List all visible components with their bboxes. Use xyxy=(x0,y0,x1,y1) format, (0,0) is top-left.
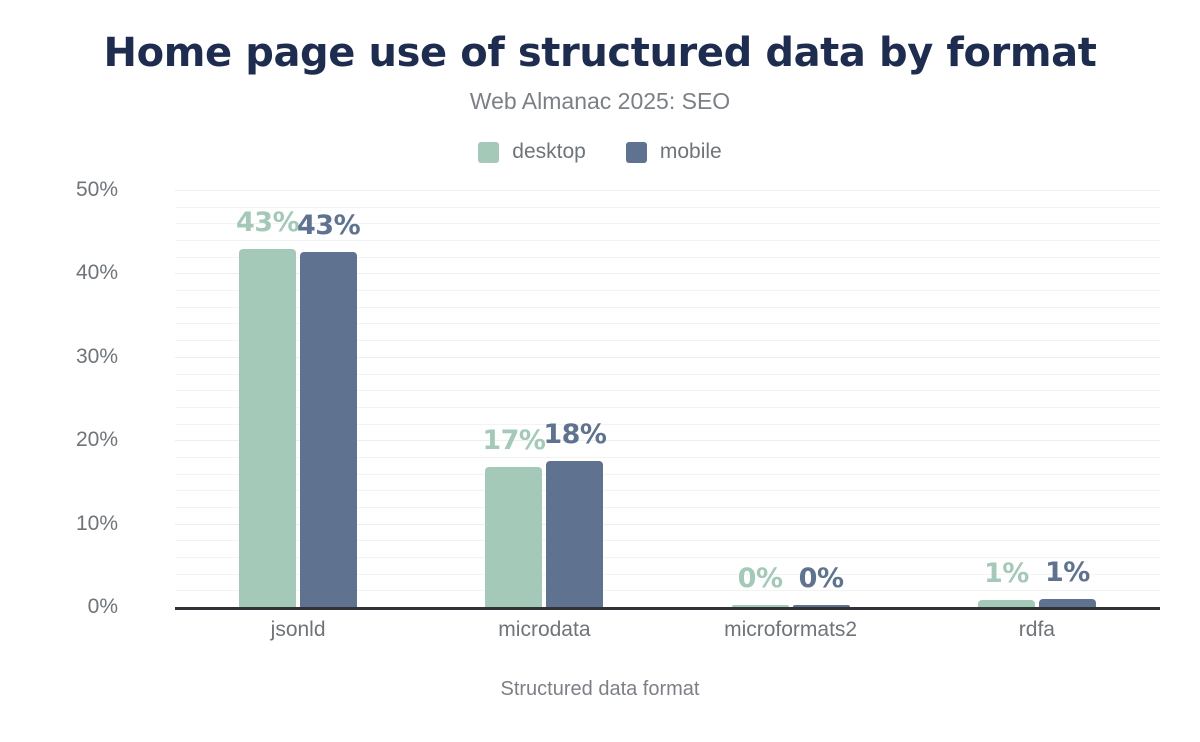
value-label-jsonld-mobile: 43% xyxy=(297,210,360,241)
bar-microdata-mobile[interactable] xyxy=(546,461,603,607)
bar-microdata-desktop[interactable] xyxy=(485,467,542,607)
chart-title: Home page use of structured data by form… xyxy=(0,30,1200,76)
legend-swatch-icon xyxy=(626,142,647,163)
chart-subtitle: Web Almanac 2025: SEO xyxy=(0,88,1200,115)
y-tick-label: 0% xyxy=(88,595,118,619)
bar-jsonld-mobile[interactable] xyxy=(300,252,357,607)
x-tick-label-rdfa: rdfa xyxy=(1019,618,1055,642)
value-label-microdata-desktop: 17% xyxy=(482,425,545,456)
value-label-rdfa-desktop: 1% xyxy=(984,558,1029,589)
legend-label: mobile xyxy=(660,140,722,164)
y-axis-ticks: 0%10%20%30%40%50% xyxy=(0,190,163,607)
legend-item-mobile[interactable]: mobile xyxy=(626,140,722,164)
bar-rdfa-mobile[interactable] xyxy=(1039,599,1096,607)
y-tick-label: 50% xyxy=(76,178,118,202)
value-label-rdfa-mobile: 1% xyxy=(1045,557,1090,588)
chart-legend: desktopmobile xyxy=(0,140,1200,164)
y-tick-label: 20% xyxy=(76,428,118,452)
legend-label: desktop xyxy=(512,140,586,164)
x-tick-label-jsonld: jsonld xyxy=(271,618,326,642)
value-label-jsonld-desktop: 43% xyxy=(236,207,299,238)
y-tick-label: 30% xyxy=(76,345,118,369)
plot-area: 43%43%17%18%0%0%1%1% xyxy=(175,190,1160,607)
value-label-microformats2-desktop: 0% xyxy=(738,563,783,594)
value-label-microdata-mobile: 18% xyxy=(543,419,606,450)
y-tick-label: 10% xyxy=(76,512,118,536)
gridline xyxy=(175,190,1160,191)
x-tick-label-microdata: microdata xyxy=(498,618,590,642)
x-axis-title: Structured data format xyxy=(0,678,1200,701)
bar-chart: Home page use of structured data by form… xyxy=(0,0,1200,742)
gridline xyxy=(175,207,1160,208)
bar-jsonld-desktop[interactable] xyxy=(239,249,296,607)
bar-rdfa-desktop[interactable] xyxy=(978,600,1035,608)
value-label-microformats2-mobile: 0% xyxy=(799,563,844,594)
x-tick-label-microformats2: microformats2 xyxy=(724,618,857,642)
legend-swatch-icon xyxy=(478,142,499,163)
y-tick-label: 40% xyxy=(76,261,118,285)
legend-item-desktop[interactable]: desktop xyxy=(478,140,586,164)
x-axis-line xyxy=(175,607,1160,610)
